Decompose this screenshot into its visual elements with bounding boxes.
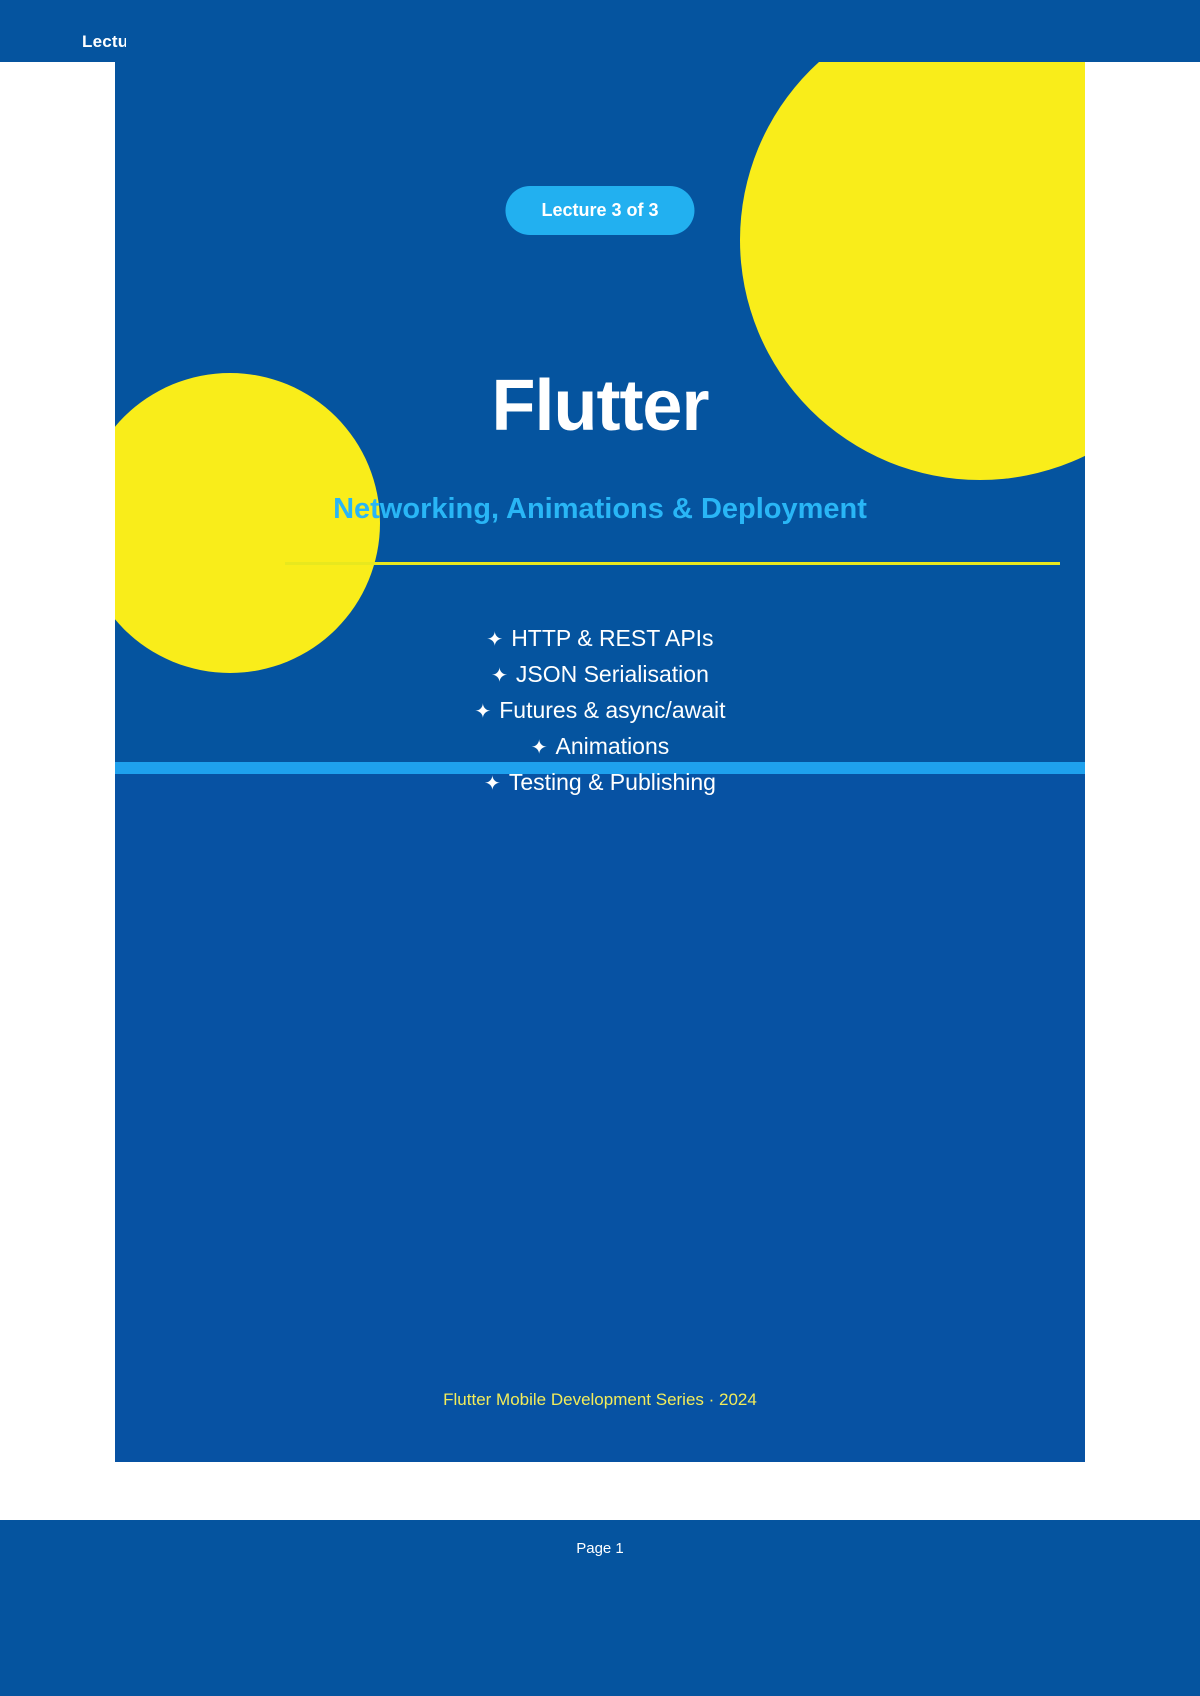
list-item-label: JSON Serialisation bbox=[516, 661, 709, 687]
star-bullet-icon: ✦ bbox=[491, 665, 508, 687]
list-item-label: Futures & async/await bbox=[499, 697, 725, 723]
page-footer-bar: Page 1 bbox=[0, 1520, 1200, 1696]
list-item: ✦Animations bbox=[115, 729, 1085, 765]
title-divider-line bbox=[285, 562, 1060, 565]
list-item: ✦JSON Serialisation bbox=[115, 657, 1085, 693]
list-item-label: Testing & Publishing bbox=[509, 769, 716, 795]
slide-canvas: Lecture 3 of 3 Flutter Networking, Anima… bbox=[115, 62, 1085, 1462]
list-item-label: Animations bbox=[555, 733, 669, 759]
list-item: ✦Futures & async/await bbox=[115, 693, 1085, 729]
lecture-badge: Lecture 3 of 3 bbox=[505, 186, 694, 235]
list-item: ✦Testing & Publishing bbox=[115, 765, 1085, 801]
slide-footer-caption: Flutter Mobile Development Series · 2024 bbox=[115, 1390, 1085, 1410]
star-bullet-icon: ✦ bbox=[484, 773, 501, 795]
list-item: ✦HTTP & REST APIs bbox=[115, 621, 1085, 657]
star-bullet-icon: ✦ bbox=[474, 701, 491, 723]
page-number-label: Page 1 bbox=[0, 1540, 1200, 1557]
document-header-bar: Lecture 3 of 3 bbox=[0, 0, 1200, 62]
star-bullet-icon: ✦ bbox=[531, 737, 548, 759]
list-item-label: HTTP & REST APIs bbox=[511, 625, 713, 651]
header-title-clipped: Lecture 3 of 3 bbox=[82, 30, 126, 54]
star-bullet-icon: ✦ bbox=[486, 629, 503, 651]
page-sheet: Lecture 3 of 3 Flutter Networking, Anima… bbox=[0, 62, 1200, 1496]
topic-list: ✦HTTP & REST APIs ✦JSON Serialisation ✦F… bbox=[115, 621, 1085, 801]
slide-subtitle: Networking, Animations & Deployment bbox=[115, 493, 1085, 526]
slide-title: Flutter bbox=[115, 370, 1085, 442]
slide-lower-panel bbox=[115, 774, 1085, 1462]
